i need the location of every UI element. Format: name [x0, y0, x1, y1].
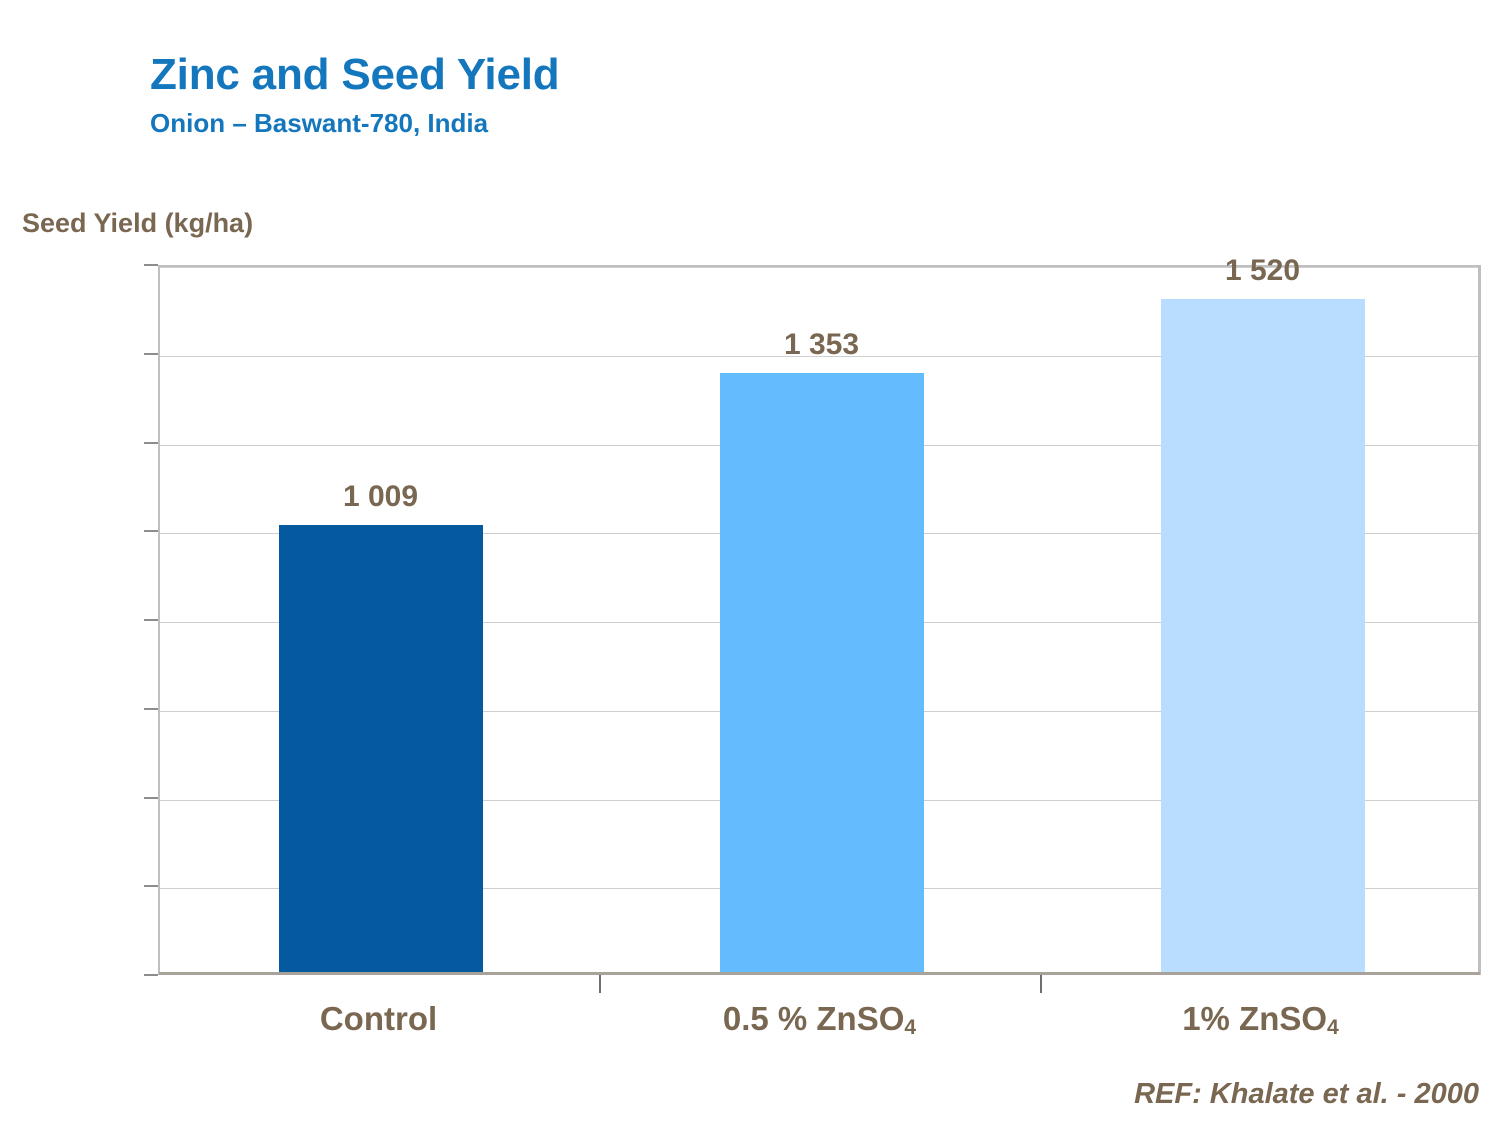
bar-value-label: 1 353: [784, 328, 859, 362]
y-axis-tick-label: 600: [0, 691, 20, 727]
bar-value-label: 1 009: [343, 480, 418, 514]
axis-baseline: [159, 972, 1480, 975]
chart-plot-wrapper: 1 0091 3531 520: [158, 265, 1481, 975]
x-axis-tick: [599, 975, 601, 993]
bar-value-label: 1 520: [1225, 254, 1300, 288]
reference-citation: REF: Khalate et al. - 2000: [1134, 1078, 1479, 1111]
y-axis-title: Seed Yield (kg/ha): [22, 208, 253, 239]
y-axis-tick: [144, 708, 158, 710]
y-axis-tick-label: 1 000: [0, 513, 20, 549]
chart-title: Zinc and Seed Yield: [150, 52, 559, 98]
y-axis-tick-label: 0: [0, 957, 20, 993]
y-axis-tick-label: 800: [0, 602, 20, 638]
y-axis-tick-label: 1 600: [0, 247, 20, 283]
y-axis-tick: [144, 797, 158, 799]
y-axis-tick: [144, 264, 158, 266]
bar[interactable]: 1 009: [279, 525, 483, 973]
y-axis-tick: [144, 442, 158, 444]
plot-area: 1 0091 3531 520: [158, 265, 1481, 975]
y-axis-tick-label: 400: [0, 780, 20, 816]
y-axis-tick: [144, 885, 158, 887]
y-axis-tick: [144, 530, 158, 532]
bar[interactable]: 1 520: [1161, 299, 1365, 974]
y-axis-tick-label: 1 200: [0, 425, 20, 461]
bar[interactable]: 1 353: [720, 373, 924, 973]
chart-subtitle: Onion – Baswant-780, India: [150, 108, 559, 139]
x-axis-category-label: 1% ZnSO4: [1182, 1000, 1339, 1040]
x-axis-category-label: 0.5 % ZnSO4: [723, 1000, 916, 1040]
x-axis-category-label: Control: [320, 1000, 437, 1038]
y-axis-tick-label: 1 400: [0, 336, 20, 372]
y-axis-tick: [144, 619, 158, 621]
y-axis-tick-label: 200: [0, 868, 20, 904]
y-axis-tick: [144, 353, 158, 355]
title-block: Zinc and Seed Yield Onion – Baswant-780,…: [150, 52, 559, 139]
x-axis-tick: [1040, 975, 1042, 993]
y-axis-tick: [144, 974, 158, 976]
